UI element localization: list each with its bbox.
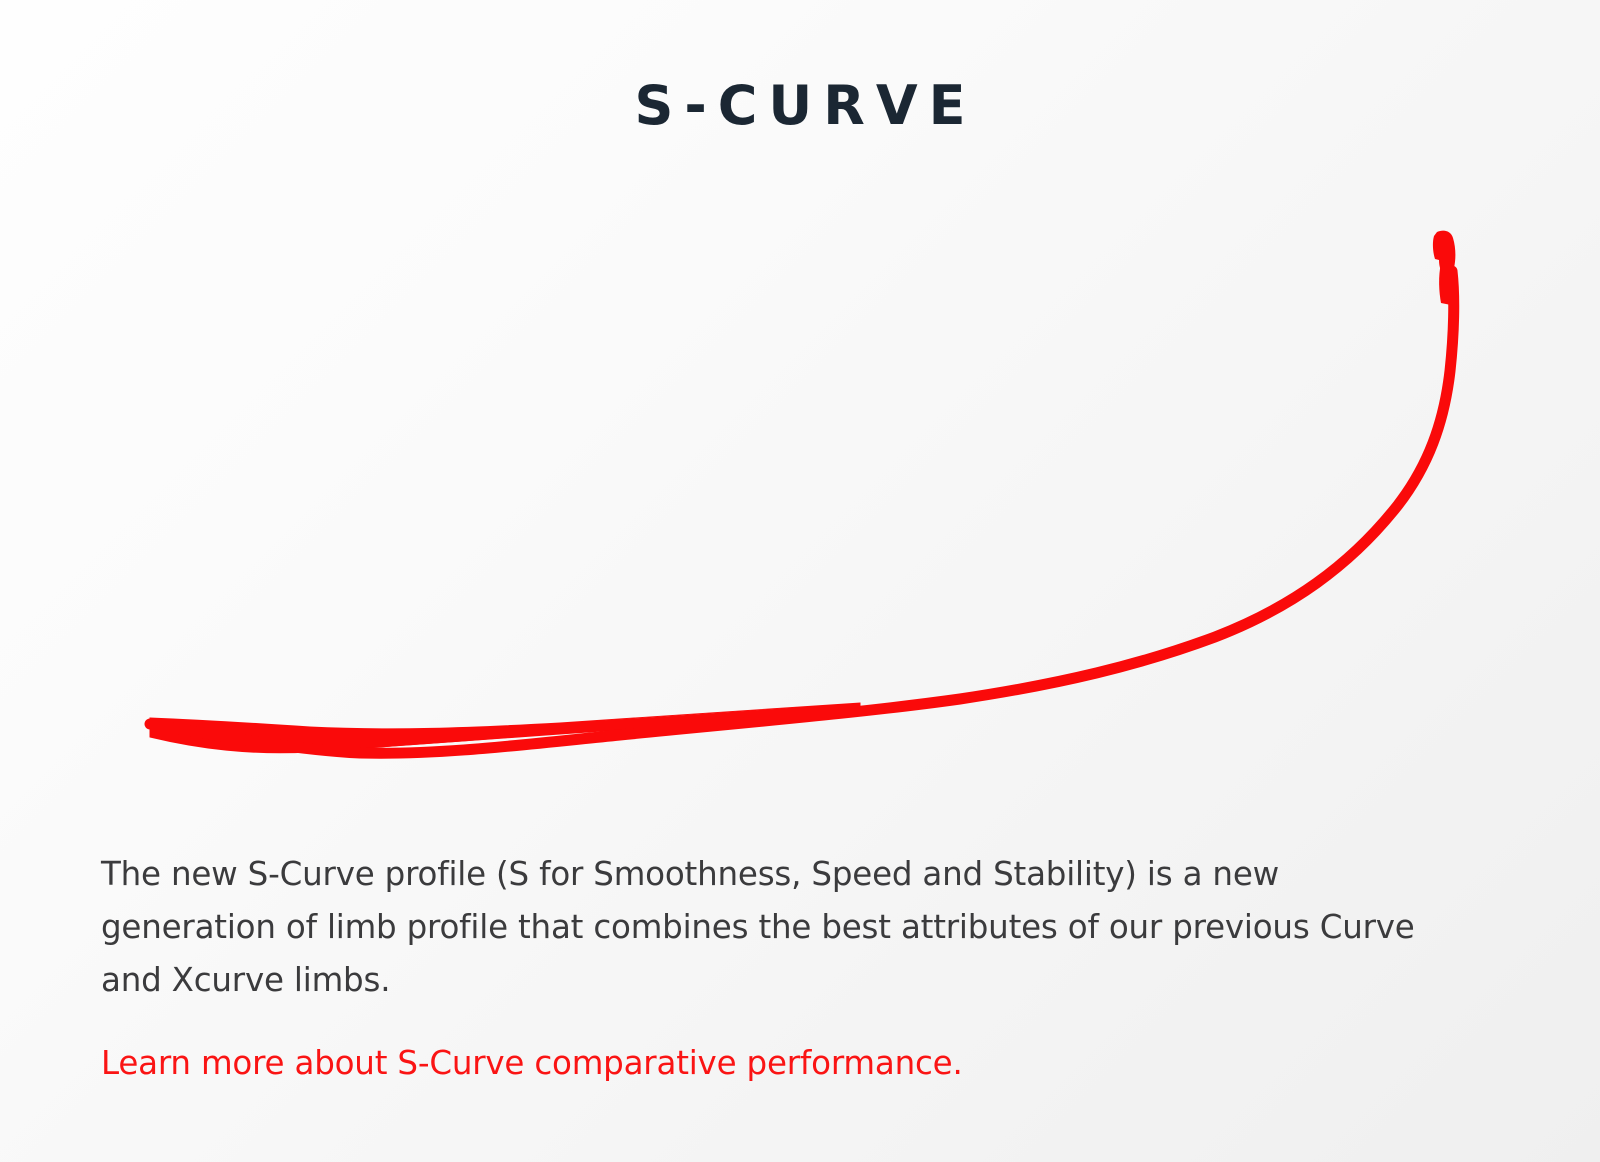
s-curve-main-stroke	[150, 271, 1454, 753]
page-title: S-CURVE	[623, 78, 976, 135]
description-paragraph: The new S-Curve profile (S for Smoothnes…	[101, 848, 1451, 1007]
s-curve-figure	[0, 175, 1600, 815]
s-curve-graphic	[0, 175, 1600, 815]
learn-more-row: Learn more about S-Curve comparative per…	[101, 1037, 1481, 1090]
learn-more-link[interactable]: Learn more about S-Curve comparative per…	[101, 1044, 963, 1082]
page-title-container: S-CURVE	[0, 78, 1600, 135]
s-curve-stroke-group	[150, 231, 1455, 754]
s-curve-page: S-CURVE The new S-Curve profile (S for S…	[0, 0, 1600, 1162]
copy-block: The new S-Curve profile (S for Smoothnes…	[101, 848, 1481, 1090]
